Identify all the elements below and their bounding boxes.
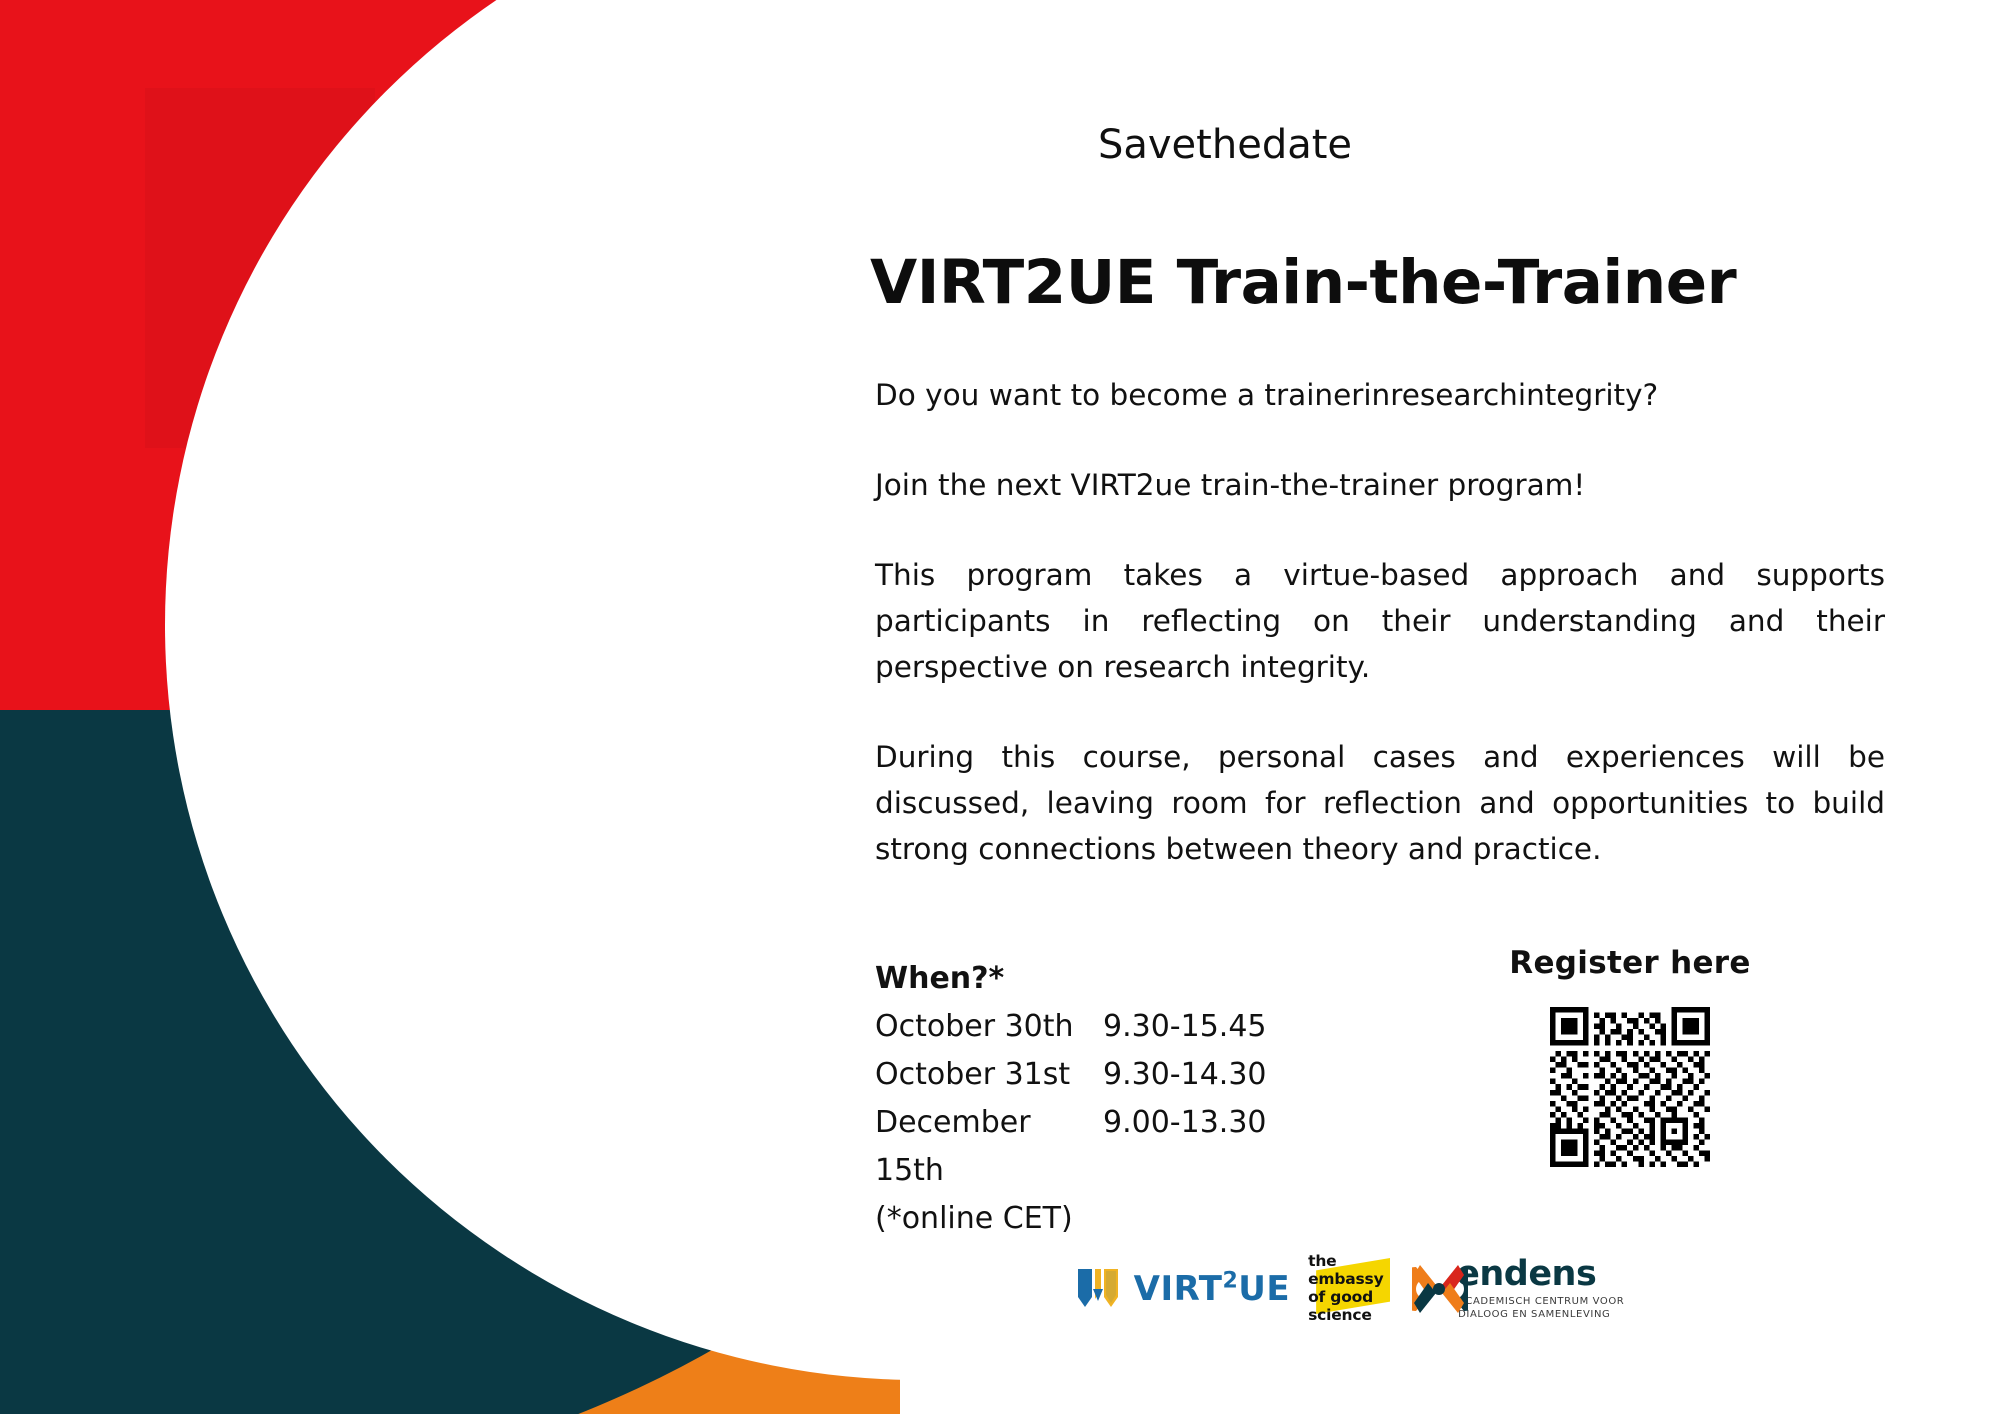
virt2ue-wordmark: VIRT2UE bbox=[1134, 1272, 1290, 1306]
body-paragraph-3: This program takes a virtue-based approa… bbox=[875, 552, 1885, 690]
when-note: (*online CET) bbox=[875, 1195, 1345, 1243]
virt2ue-word-2: UE bbox=[1238, 1269, 1290, 1309]
when-time: 9.30-15.45 bbox=[1103, 1003, 1345, 1051]
xendens-wordmark: endens ACADEMISCH CENTRUM VOOR DIALOOG E… bbox=[1470, 1257, 1624, 1321]
when-date: October 31st bbox=[875, 1051, 1103, 1099]
embassy-line-4: science bbox=[1308, 1306, 1383, 1324]
embassy-wordmark: the embassy of good science bbox=[1308, 1252, 1383, 1324]
body-paragraph-2: Join the next VIRT2ue train-the-trainer … bbox=[875, 462, 1885, 508]
when-section: When?* October 30th 9.30-15.45 October 3… bbox=[875, 955, 1345, 1243]
body-copy: Do you want to become a trainerinresearc… bbox=[875, 372, 1885, 872]
xendens-subtitle-line-1: ACADEMISCH CENTRUM VOOR bbox=[1458, 1295, 1624, 1308]
register-section: Register here bbox=[1420, 945, 1840, 1167]
when-time: 9.00-13.30 bbox=[1103, 1099, 1345, 1195]
virt2ue-word-1: VIRT bbox=[1134, 1269, 1223, 1309]
when-heading: When?* bbox=[875, 955, 1345, 1003]
footer-logos: VIRT2UE the embassy of good science bbox=[800, 1250, 1900, 1328]
kicker-text: Savethedate bbox=[880, 122, 1570, 168]
embassy-line-2: embassy bbox=[1308, 1270, 1383, 1288]
xendens-logo: endens ACADEMISCH CENTRUM VOOR DIALOOG E… bbox=[1412, 1257, 1624, 1321]
when-row: October 30th 9.30-15.45 bbox=[875, 1003, 1345, 1051]
virt2ue-mark-icon bbox=[1076, 1267, 1128, 1311]
when-row: October 31st 9.30-14.30 bbox=[875, 1051, 1345, 1099]
xendens-word: endens bbox=[1456, 1257, 1624, 1292]
when-time: 9.30-14.30 bbox=[1103, 1051, 1345, 1099]
when-row: December 15th 9.00-13.30 bbox=[875, 1099, 1345, 1195]
xendens-x-mark-icon bbox=[1412, 1261, 1468, 1317]
xendens-subtitle-line-2: DIALOOG EN SAMENLEVING bbox=[1458, 1308, 1624, 1321]
when-date: October 30th bbox=[875, 1003, 1103, 1051]
poster-root: Savethedate VIRT2UE Train-the-Trainer Do… bbox=[0, 0, 2000, 1414]
embassy-line-1: the bbox=[1308, 1252, 1383, 1270]
body-paragraph-1: Do you want to become a trainerinresearc… bbox=[875, 372, 1885, 418]
virt2ue-superscript: 2 bbox=[1222, 1269, 1238, 1294]
content-column: Savethedate VIRT2UE Train-the-Trainer Do… bbox=[880, 0, 1900, 1414]
qr-code-icon[interactable] bbox=[1550, 1007, 1710, 1167]
register-heading: Register here bbox=[1420, 945, 1840, 981]
xendens-subtitle: ACADEMISCH CENTRUM VOOR DIALOOG EN SAMEN… bbox=[1458, 1295, 1624, 1321]
embassy-line-3: of good bbox=[1308, 1288, 1383, 1306]
body-paragraph-4: During this course, personal cases and e… bbox=[875, 734, 1885, 872]
embassy-of-good-science-logo: the embassy of good science bbox=[1308, 1250, 1394, 1328]
virt2ue-logo: VIRT2UE bbox=[1076, 1267, 1290, 1311]
when-date: December 15th bbox=[875, 1099, 1103, 1195]
decorative-artwork bbox=[0, 0, 900, 1414]
page-title: VIRT2UE Train-the-Trainer bbox=[870, 251, 1890, 315]
